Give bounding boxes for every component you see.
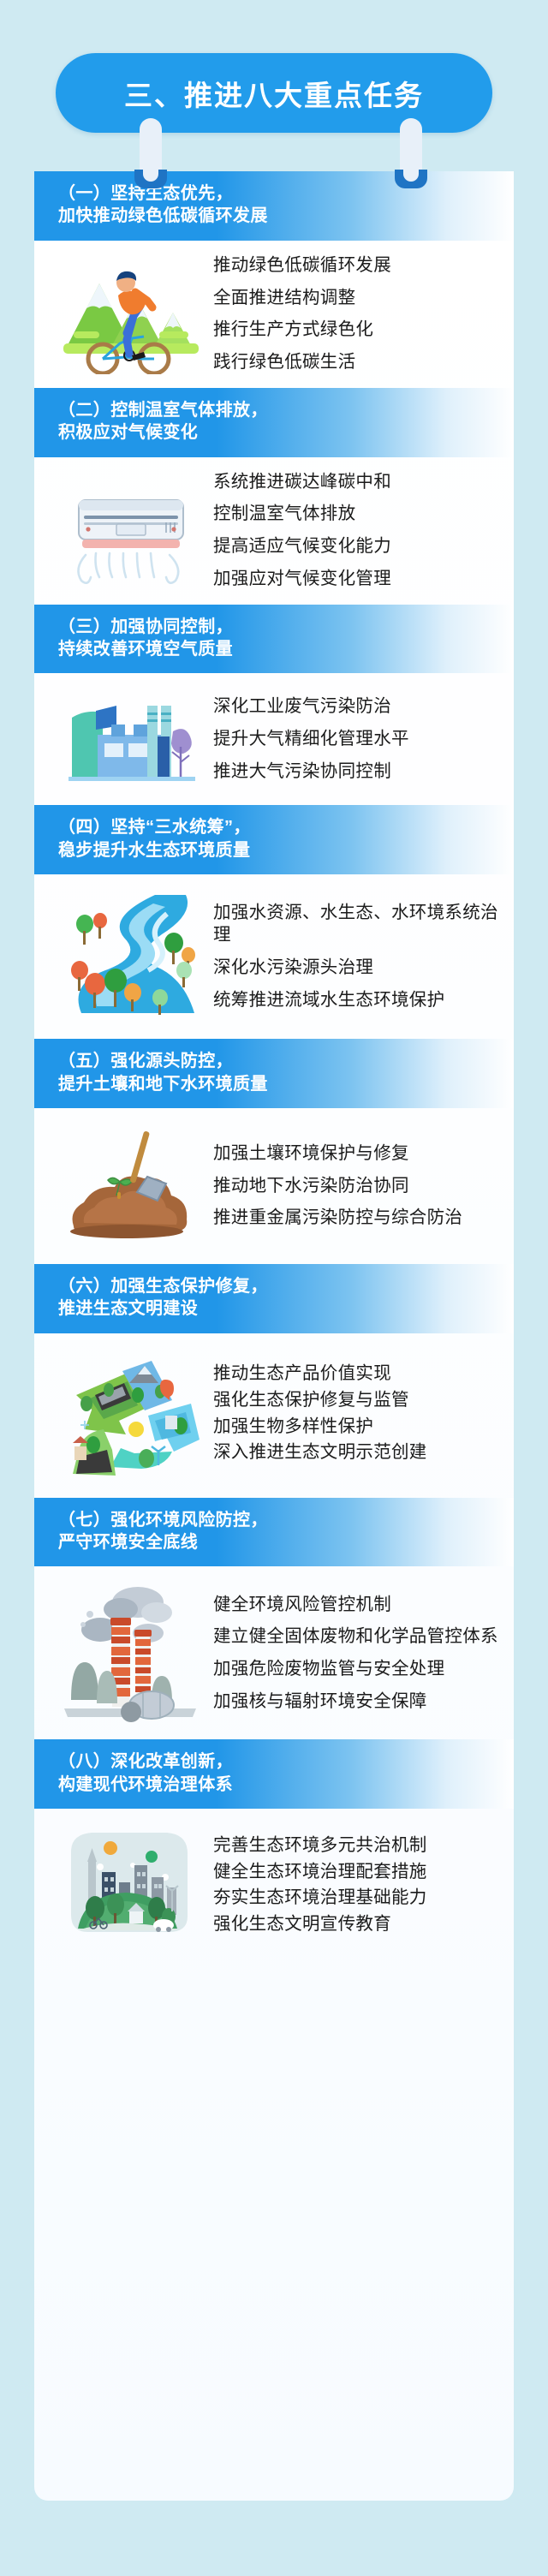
section-five-header: （五）强化源头防控， 提升土壤和地下水环境质量 [34, 1039, 514, 1108]
section-two-heading-line-2: 积极应对气候变化 [58, 421, 514, 444]
section-eight-heading-line-2: 构建现代环境治理体系 [58, 1774, 514, 1796]
smokestack-icon [51, 1580, 210, 1726]
section-two-header: （二）控制温室气体排放， 积极应对气候变化 [34, 388, 514, 457]
section-four-header: （四）坚持“三水统筹”， 稳步提升水生态环境质量 [34, 805, 514, 874]
section-seven-heading-line-2: 严守环境安全底线 [58, 1531, 514, 1553]
section-eight-header: （八）深化改革创新， 构建现代环境治理体系 [34, 1739, 514, 1809]
section-three-line-1: 深化工业废气污染防治 [213, 695, 498, 719]
section-two-line-1: 系统推进碳达峰碳中和 [213, 471, 498, 494]
section-eight-line-1: 完善生态环境多元共治机制 [213, 1834, 498, 1857]
section-two-line-2: 控制温室气体排放 [213, 503, 498, 526]
section-six-line-1: 推动生态产品价值实现 [213, 1363, 498, 1386]
section-five-body: 加强土壤环境保护与修复 推动地下水污染防治协同 推进重金属污染防控与综合防治 [34, 1108, 514, 1264]
section-eight: （八）深化改革创新， 构建现代环境治理体系 [34, 1739, 514, 1965]
section-one-lines: 推动绿色低碳循环发展 全面推进结构调整 推行生产方式绿色化 践行绿色低碳生活 [210, 254, 498, 374]
section-three-line-3: 推进大气污染协同控制 [213, 760, 498, 784]
soil-shovel-icon [51, 1122, 210, 1250]
section-eight-body: 完善生态环境多元共治机制 健全生态环境治理配套措施 夯实生态环境治理基础能力 强… [34, 1809, 514, 1965]
cyclist-mountain-icon [51, 254, 210, 374]
section-four-line-3: 统筹推进流域水生态环境保护 [213, 989, 498, 1012]
header-pill: 三、推进八大重点任务 [56, 53, 492, 133]
section-one: （一）坚持生态优先， 加快推动绿色低碳循环发展 [34, 171, 514, 388]
section-five-heading-line-2: 提升土壤和地下水环境质量 [58, 1073, 514, 1095]
section-four-lines: 加强水资源、水生态、水环境系统治理 深化水污染源头治理 统筹推进流域水生态环境保… [210, 902, 498, 1012]
tasks-card: （一）坚持生态优先， 加快推动绿色低碳循环发展 [34, 171, 514, 2501]
section-three-line-2: 提升大气精细化管理水平 [213, 728, 498, 751]
section-seven-lines: 健全环境风险管控机制 建立健全固体废物和化学品管控体系 加强危险废物监管与安全处… [210, 1594, 498, 1714]
page-title: 三、推进八大重点任务 [124, 73, 424, 114]
section-six-lines: 推动生态产品价值实现 强化生态保护修复与监管 加强生物多样性保护 深入推进生态文… [210, 1363, 498, 1468]
section-six-header: （六）加强生态保护修复， 推进生态文明建设 [34, 1264, 514, 1333]
river-trees-icon [51, 888, 210, 1025]
section-five: （五）强化源头防控， 提升土壤和地下水环境质量 加强土壤环境保护与修复 推动地下… [34, 1039, 514, 1264]
section-two-heading-line-1: （二）控制温室气体排放， [58, 399, 514, 421]
section-two-lines: 系统推进碳达峰碳中和 控制温室气体排放 提高适应气候变化能力 加强应对气候变化管… [210, 471, 498, 591]
page-header: 三、推进八大重点任务 [0, 53, 548, 133]
section-three-header: （三）加强协同控制， 持续改善环境空气质量 [34, 605, 514, 674]
section-one-header: （一）坚持生态优先， 加快推动绿色低碳循环发展 [34, 171, 514, 241]
section-seven-heading-line-1: （七）强化环境风险防控， [58, 1509, 514, 1531]
section-six: （六）加强生态保护修复， 推进生态文明建设 [34, 1264, 514, 1498]
section-six-heading-line-1: （六）加强生态保护修复， [58, 1275, 514, 1297]
section-eight-heading-line-1: （八）深化改革创新， [58, 1750, 514, 1773]
section-four-heading-line-1: （四）坚持“三水统筹”， [58, 816, 514, 838]
section-three-heading-line-1: （三）加强协同控制， [58, 616, 514, 638]
section-eight-lines: 完善生态环境多元共治机制 健全生态环境治理配套措施 夯实生态环境治理基础能力 强… [210, 1834, 498, 1940]
section-six-body: 推动生态产品价值实现 强化生态保护修复与监管 加强生物多样性保护 深入推进生态文… [34, 1333, 514, 1498]
section-five-line-1: 加强土壤环境保护与修复 [213, 1142, 498, 1166]
section-seven-line-2: 建立健全固体废物和化学品管控体系 [213, 1625, 498, 1649]
recycle-landscape-icon [51, 1347, 210, 1484]
section-one-body: 推动绿色低碳循环发展 全面推进结构调整 推行生产方式绿色化 践行绿色低碳生活 [34, 241, 514, 388]
section-six-line-4: 深入推进生态文明示范创建 [213, 1441, 498, 1464]
section-four-line-1: 加强水资源、水生态、水环境系统治理 [213, 902, 498, 947]
section-six-heading-line-2: 推进生态文明建设 [58, 1297, 514, 1320]
section-five-lines: 加强土壤环境保护与修复 推动地下水污染防治协同 推进重金属污染防控与综合防治 [210, 1142, 498, 1230]
section-three-body: 深化工业废气污染防治 提升大气精细化管理水平 推进大气污染协同控制 [34, 673, 514, 805]
section-eight-line-4: 强化生态文明宣传教育 [213, 1913, 498, 1936]
section-one-line-2: 全面推进结构调整 [213, 287, 498, 310]
section-four: （四）坚持“三水统筹”， 稳步提升水生态环境质量 [34, 805, 514, 1039]
section-one-line-3: 推行生产方式绿色化 [213, 319, 498, 342]
section-two-line-4: 加强应对气候变化管理 [213, 568, 498, 591]
air-conditioner-icon [51, 471, 210, 591]
section-six-line-3: 加强生物多样性保护 [213, 1416, 498, 1439]
section-four-body: 加强水资源、水生态、水环境系统治理 深化水污染源头治理 统筹推进流域水生态环境保… [34, 874, 514, 1039]
section-one-line-4: 践行绿色低碳生活 [213, 351, 498, 374]
section-four-line-2: 深化水污染源头治理 [213, 957, 498, 980]
section-five-line-2: 推动地下水污染防治协同 [213, 1175, 498, 1198]
section-six-line-2: 强化生态保护修复与监管 [213, 1389, 498, 1412]
section-one-heading-line-2: 加快推动绿色低碳循环发展 [58, 205, 514, 227]
section-five-line-3: 推进重金属污染防控与综合防治 [213, 1207, 498, 1230]
section-two-body: 系统推进碳达峰碳中和 控制温室气体排放 提高适应气候变化能力 加强应对气候变化管… [34, 457, 514, 605]
section-eight-line-3: 夯实生态环境治理基础能力 [213, 1887, 498, 1910]
section-seven-line-4: 加强核与辐射环境安全保障 [213, 1690, 498, 1714]
section-two: （二）控制温室气体排放， 积极应对气候变化 [34, 388, 514, 605]
section-seven: （七）强化环境风险防控， 严守环境安全底线 [34, 1498, 514, 1740]
section-one-heading-line-1: （一）坚持生态优先， [58, 182, 514, 205]
section-seven-line-1: 健全环境风险管控机制 [213, 1594, 498, 1617]
section-one-line-1: 推动绿色低碳循环发展 [213, 254, 498, 277]
section-seven-line-3: 加强危险废物监管与安全处理 [213, 1658, 498, 1681]
section-three: （三）加强协同控制， 持续改善环境空气质量 [34, 605, 514, 806]
factory-icon [51, 687, 210, 791]
section-seven-body: 健全环境风险管控机制 建立健全固体废物和化学品管控体系 加强危险废物监管与安全处… [34, 1566, 514, 1739]
section-three-heading-line-2: 持续改善环境空气质量 [58, 638, 514, 660]
section-seven-header: （七）强化环境风险防控， 严守环境安全底线 [34, 1498, 514, 1567]
section-five-heading-line-1: （五）强化源头防控， [58, 1050, 514, 1072]
section-eight-line-2: 健全生态环境治理配套措施 [213, 1861, 498, 1884]
section-two-line-3: 提高适应气候变化能力 [213, 535, 498, 558]
section-three-lines: 深化工业废气污染防治 提升大气精细化管理水平 推进大气污染协同控制 [210, 695, 498, 783]
green-city-icon [51, 1822, 210, 1951]
section-four-heading-line-2: 稳步提升水生态环境质量 [58, 839, 514, 862]
